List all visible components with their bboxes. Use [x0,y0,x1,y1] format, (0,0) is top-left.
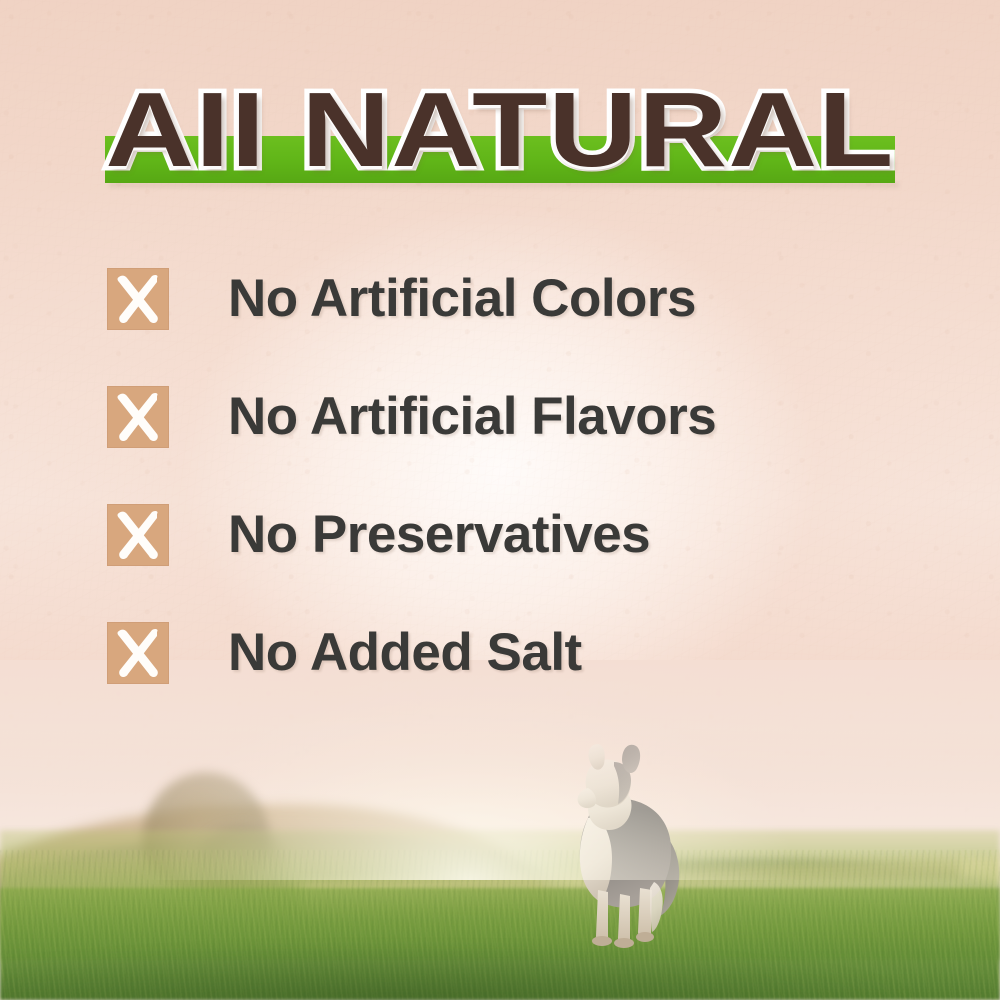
claim-label: No Artificial Flavors [228,390,716,444]
claim-label: No Added Salt [228,626,582,680]
x-mark-icon [107,504,169,566]
x-mark-icon [107,622,169,684]
landscape-photo [0,660,1000,1000]
all-natural-product-claims-poster: AII NATURAL No Artificial Colors No Arti… [0,0,1000,1000]
list-item: No Artificial Colors [107,268,907,330]
foreground-shadow [0,940,1000,1000]
claim-label: No Artificial Colors [228,272,696,326]
dog-silhouette [536,740,706,948]
headline-banner: AII NATURAL [0,76,1000,192]
page-title: AII NATURAL [0,76,1000,184]
x-mark-icon [107,268,169,330]
list-item: No Preservatives [107,504,907,566]
claim-label: No Preservatives [228,508,650,562]
x-mark-icon [107,386,169,448]
list-item: No Added Salt [107,622,907,684]
list-item: No Artificial Flavors [107,386,907,448]
claims-list: No Artificial Colors No Artificial Flavo… [107,268,907,684]
